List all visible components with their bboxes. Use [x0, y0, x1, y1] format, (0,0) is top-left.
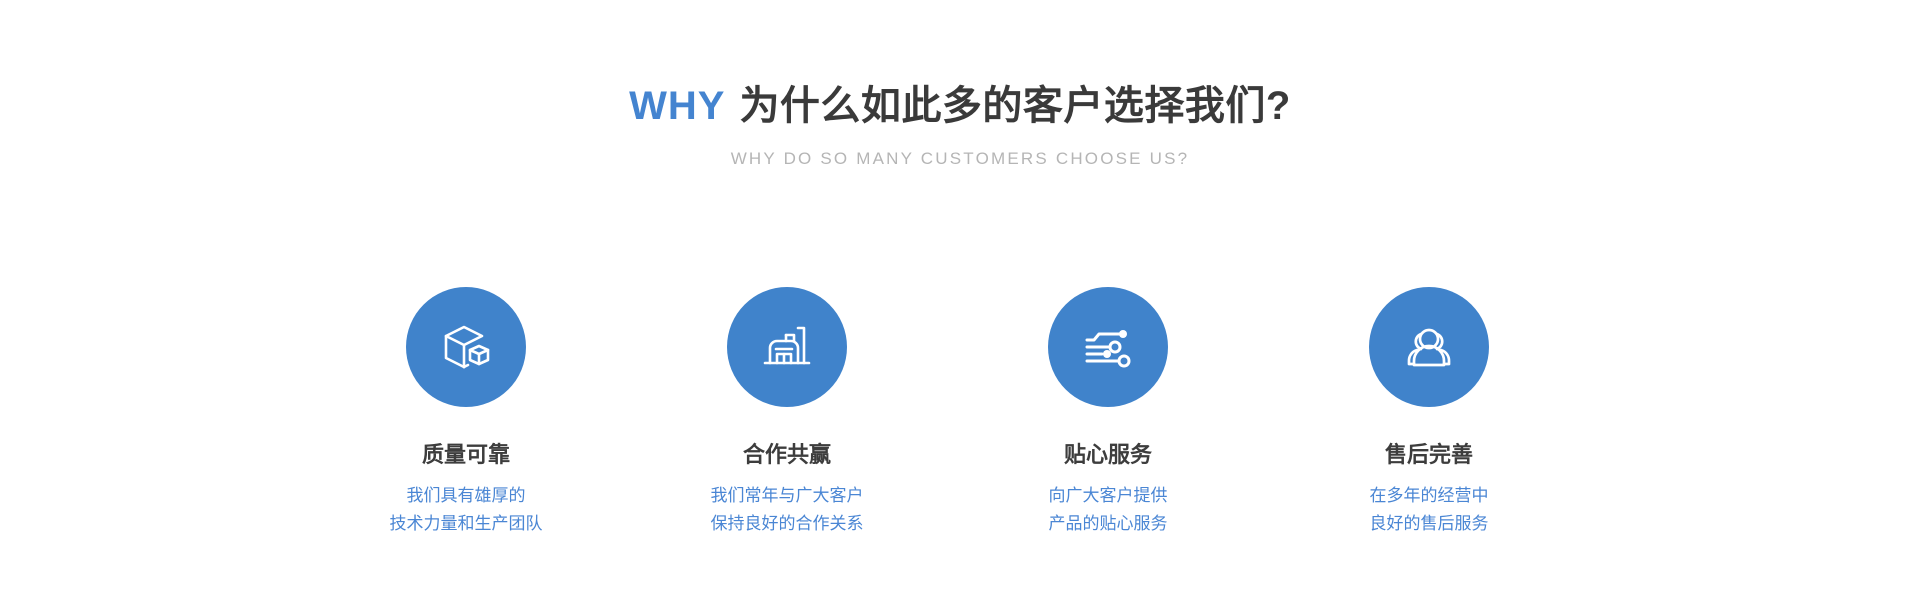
feature-description-line: 良好的售后服务	[1370, 510, 1489, 538]
feature-description: 向广大客户提供 产品的贴心服务	[1049, 482, 1168, 538]
feature-description-line: 产品的贴心服务	[1049, 510, 1168, 538]
feature-description-line: 向广大客户提供	[1049, 482, 1168, 510]
feature-description-line: 技术力量和生产团队	[390, 510, 543, 538]
page-subtitle: WHY DO SO MANY CUSTOMERS CHOOSE US?	[0, 149, 1920, 169]
feature-icon-circle	[1369, 287, 1489, 407]
feature-icon-circle	[727, 287, 847, 407]
feature-icon-circle	[406, 287, 526, 407]
feature-title: 质量可靠	[422, 441, 510, 469]
feature-description-line: 保持良好的合作关系	[711, 510, 864, 538]
package-box-icon	[434, 315, 498, 379]
feature-description-line: 我们常年与广大客户	[711, 482, 864, 510]
feature-title: 贴心服务	[1064, 441, 1152, 469]
section-heading: WHY为什么如此多的客户选择我们? WHY DO SO MANY CUSTOME…	[0, 82, 1920, 169]
feature-item-quality[interactable]: 质量可靠 我们具有雄厚的 技术力量和生产团队	[406, 287, 526, 538]
title-accent-why: WHY	[629, 84, 725, 128]
why-choose-us-section: WHY为什么如此多的客户选择我们? WHY DO SO MANY CUSTOME…	[0, 0, 1920, 615]
circuit-network-icon	[1076, 315, 1140, 379]
feature-item-aftersales[interactable]: 售后完善 在多年的经营中 良好的售后服务	[1369, 287, 1489, 538]
feature-icon-circle	[1048, 287, 1168, 407]
title-main-text: 为什么如此多的客户选择我们?	[739, 84, 1290, 128]
feature-item-service[interactable]: 贴心服务 向广大客户提供 产品的贴心服务	[1048, 287, 1168, 538]
feature-title: 售后完善	[1385, 441, 1473, 469]
feature-description-line: 在多年的经营中	[1370, 482, 1489, 510]
feature-list: 质量可靠 我们具有雄厚的 技术力量和生产团队	[406, 287, 1489, 538]
feature-description: 我们常年与广大客户 保持良好的合作关系	[711, 482, 864, 538]
page-title: WHY为什么如此多的客户选择我们?	[0, 82, 1920, 130]
feature-item-cooperation[interactable]: 合作共赢 我们常年与广大客户 保持良好的合作关系	[727, 287, 847, 538]
feature-description-line: 我们具有雄厚的	[390, 482, 543, 510]
factory-icon	[755, 315, 819, 379]
feature-description: 我们具有雄厚的 技术力量和生产团队	[390, 482, 543, 538]
feature-description: 在多年的经营中 良好的售后服务	[1370, 482, 1489, 538]
feature-title: 合作共赢	[743, 441, 831, 469]
users-group-icon	[1397, 315, 1461, 379]
